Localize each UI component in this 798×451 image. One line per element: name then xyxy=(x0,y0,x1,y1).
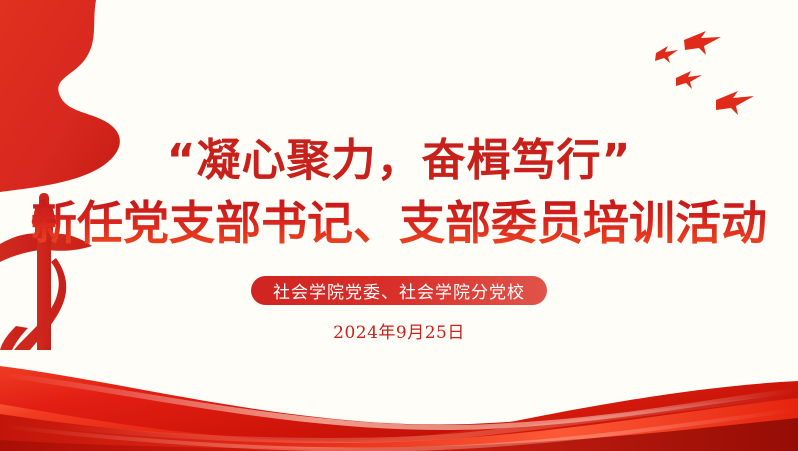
organizer-badge: 社会学院党委、社会学院分党校 xyxy=(251,276,547,305)
event-banner: “凝心聚力，奋楫笃行” 新任党支部书记、支部委员培训活动 社会学院党委、社会学院… xyxy=(0,0,798,451)
event-date: 2024年9月25日 xyxy=(333,318,465,343)
page-subtitle: 新任党支部书记、支部委员培训活动 xyxy=(31,196,767,250)
page-title: “凝心聚力，奋楫笃行” xyxy=(167,136,632,186)
banner-content: “凝心聚力，奋楫笃行” 新任党支部书记、支部委员培训活动 社会学院党委、社会学院… xyxy=(0,0,798,451)
